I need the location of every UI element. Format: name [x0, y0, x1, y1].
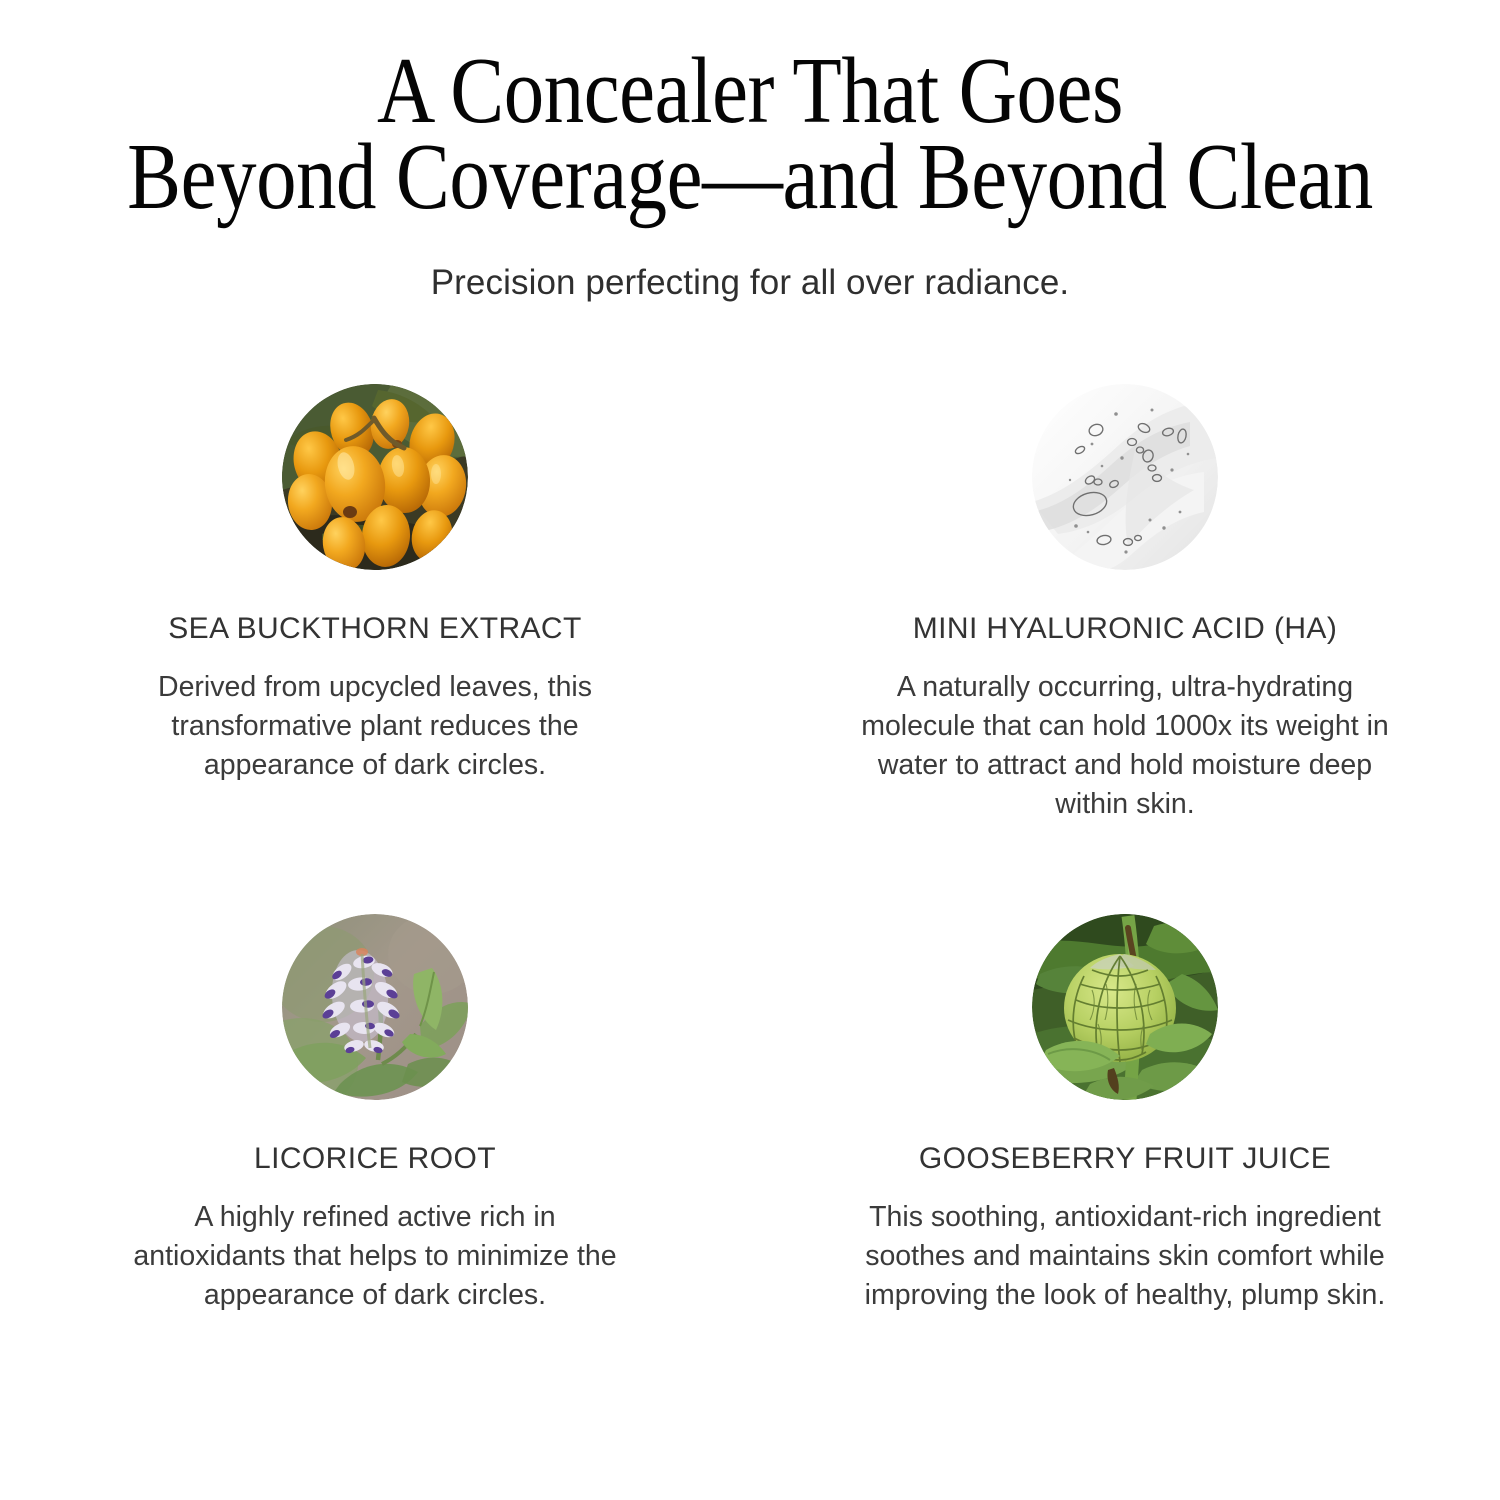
- ingredient-card-sea-buckthorn: SEA BUCKTHORN EXTRACT Derived from upcyc…: [0, 360, 750, 890]
- page-title: A Concealer That Goes Beyond Coverage—an…: [105, 48, 1395, 220]
- ingredient-description: A naturally occurring, ultra-hydrating m…: [845, 668, 1405, 824]
- ingredient-card-hyaluronic-acid: MINI HYALURONIC ACID (HA) A naturally oc…: [750, 360, 1500, 890]
- gooseberry-husk-fruit-photo: [1032, 914, 1218, 1100]
- licorice-root-flower-photo: [282, 914, 468, 1100]
- ingredient-card-licorice-root: LICORICE ROOT A highly refined active ri…: [0, 890, 750, 1420]
- ingredient-description: Derived from upcycled leaves, this trans…: [115, 668, 635, 785]
- ingredient-card-gooseberry: GOOSEBERRY FRUIT JUICE This soothing, an…: [750, 890, 1500, 1420]
- hyaluronic-acid-gel-texture-photo: [1032, 384, 1218, 570]
- page-title-line-1: A Concealer That Goes: [105, 48, 1395, 134]
- page-header: A Concealer That Goes Beyond Coverage—an…: [0, 0, 1500, 304]
- ingredient-title: MINI HYALURONIC ACID (HA): [913, 612, 1337, 646]
- page-title-line-2: Beyond Coverage—and Beyond Clean: [105, 134, 1395, 220]
- ingredient-title: GOOSEBERRY FRUIT JUICE: [919, 1142, 1331, 1176]
- ingredient-title: LICORICE ROOT: [254, 1142, 496, 1176]
- ingredient-benefits-page: A Concealer That Goes Beyond Coverage—an…: [0, 0, 1500, 1500]
- ingredient-grid: SEA BUCKTHORN EXTRACT Derived from upcyc…: [0, 360, 1500, 1420]
- ingredient-description: This soothing, antioxidant-rich ingredie…: [835, 1198, 1415, 1315]
- ingredient-title: SEA BUCKTHORN EXTRACT: [168, 612, 581, 646]
- page-subtitle: Precision perfecting for all over radian…: [0, 262, 1500, 304]
- sea-buckthorn-berries-photo: [282, 384, 468, 570]
- ingredient-description: A highly refined active rich in antioxid…: [115, 1198, 635, 1315]
